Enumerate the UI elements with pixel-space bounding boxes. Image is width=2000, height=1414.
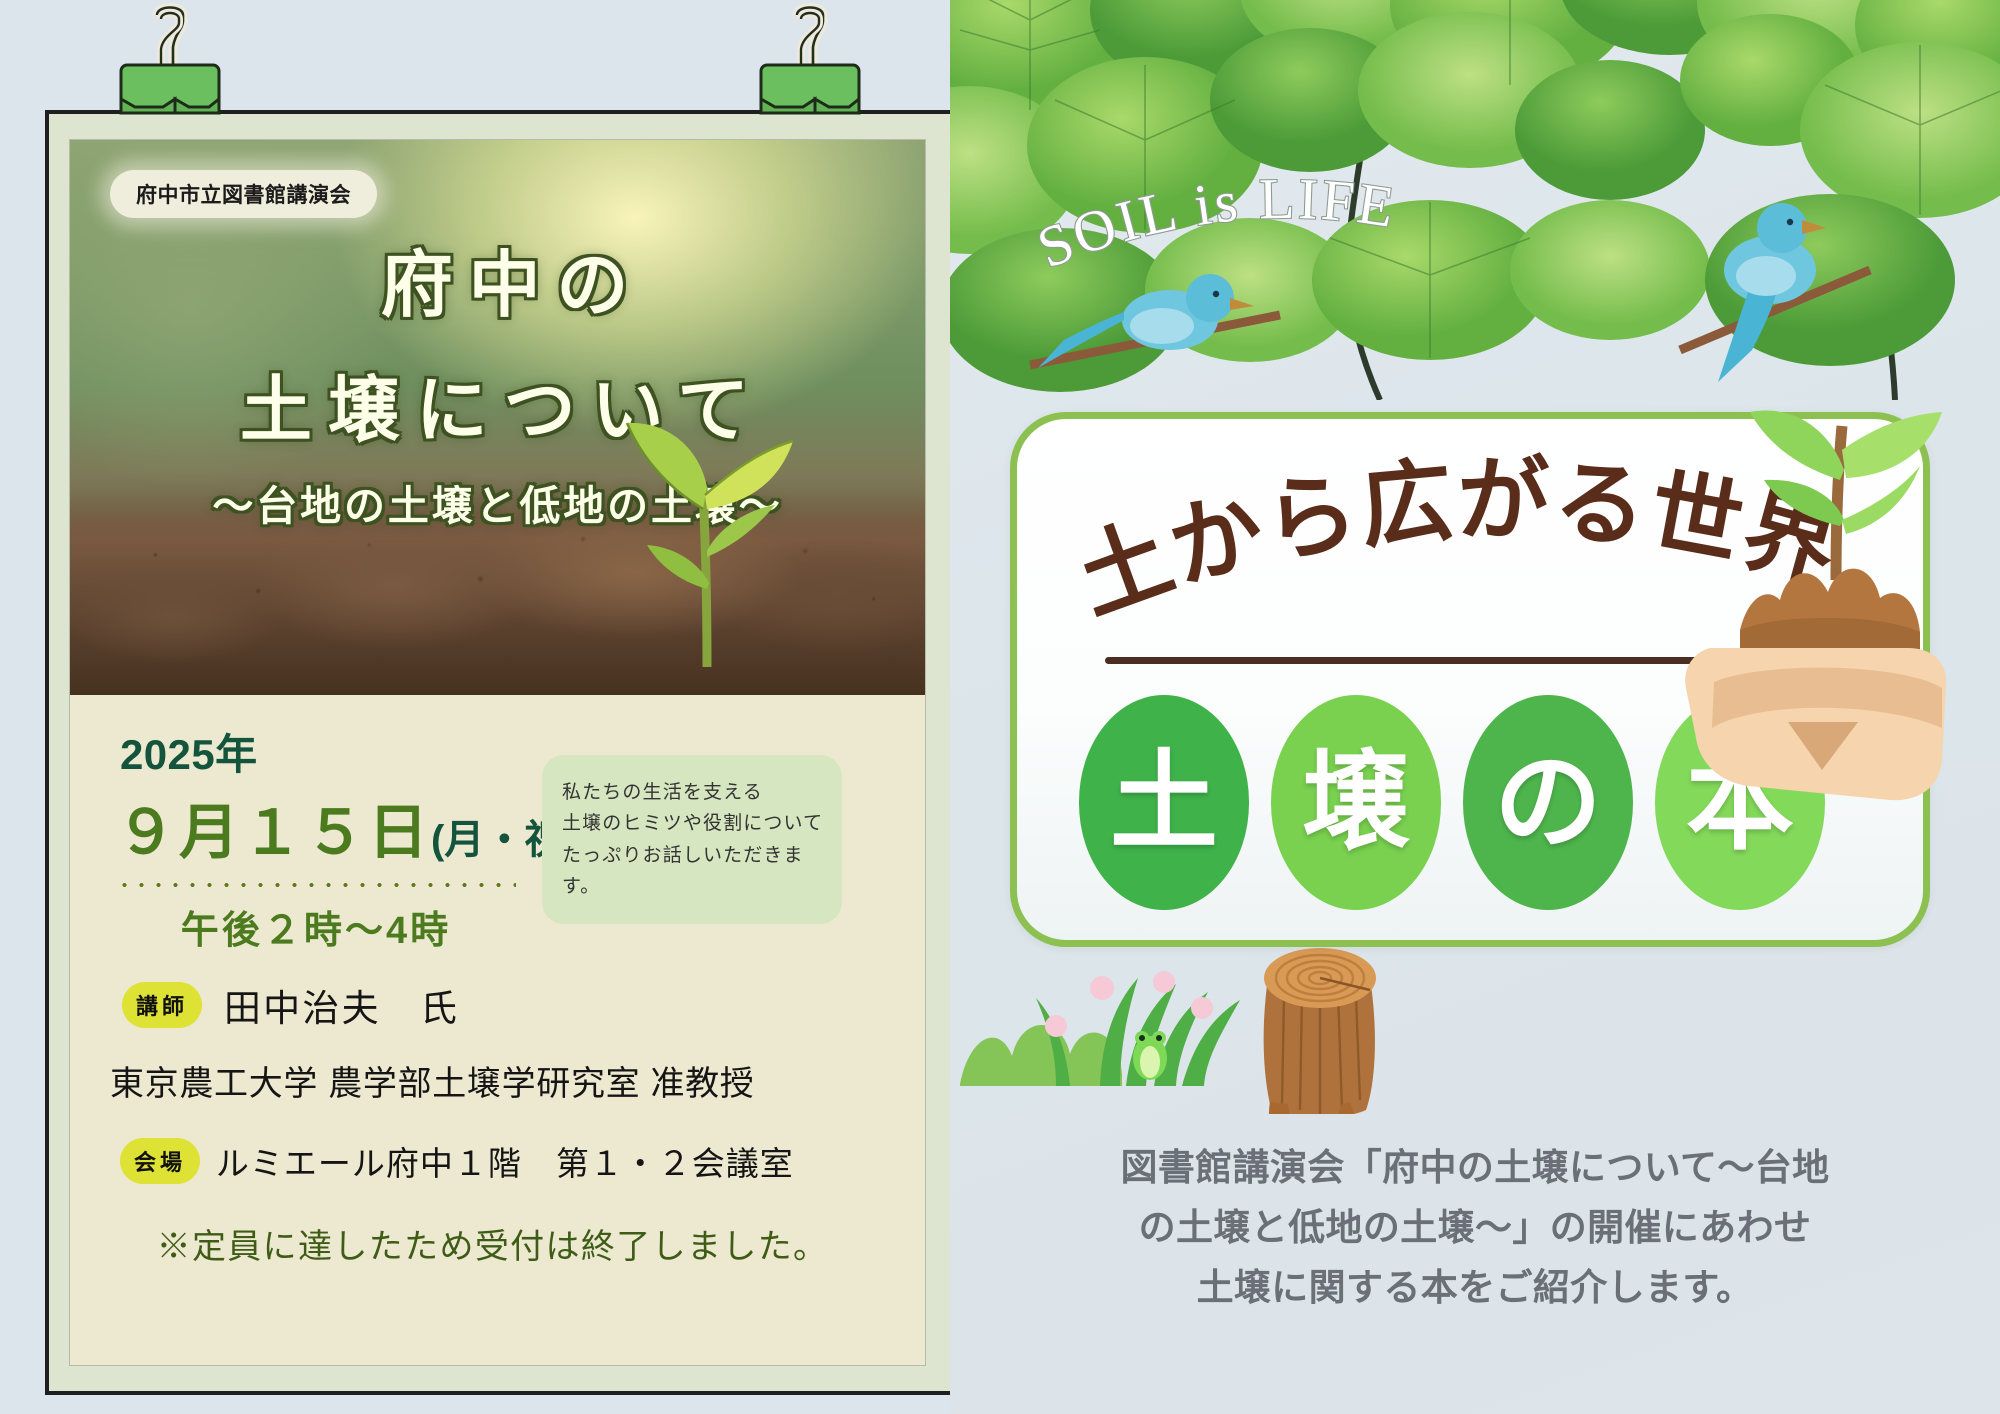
soil-is-life-textpath: SOIL is LIFE bbox=[1032, 172, 1401, 281]
speaker-name: 田中治夫 氏 bbox=[224, 978, 459, 1032]
book-panel-description: 図書館講演会「府中の土壌について〜台地 の土壌と低地の土壌〜」の開催にあわせ 土… bbox=[950, 1138, 2000, 1318]
soil-is-life-tagline: SOIL is LIFE bbox=[1032, 172, 1462, 292]
binder-clip-right-icon bbox=[745, 3, 875, 131]
event-note-box: 私たちの生活を支える 土壌のヒミツや役割について たっぷりお話しいただきます。 bbox=[542, 755, 842, 924]
poster-title-line1: 府中の bbox=[70, 226, 925, 331]
desc-line-3: 土壌に関する本をご紹介します。 bbox=[950, 1258, 2000, 1318]
desc-line-2: の土壌と低地の土壌〜」の開催にあわせ bbox=[950, 1198, 2000, 1258]
event-poster[interactable]: 府中市立図書館講演会 府中の 土壌について 〜台地の土壌と低地の土壌〜 bbox=[70, 140, 925, 1365]
title-chip-char-2: の bbox=[1494, 748, 1602, 856]
note-line-1: 私たちの生活を支える bbox=[562, 777, 824, 808]
sprout-illustration-icon bbox=[607, 337, 807, 667]
venue-name: ルミエール府中１階 第１・２会議室 bbox=[216, 1137, 794, 1185]
note-line-3: たっぷりお話しいただきます。 bbox=[562, 840, 824, 903]
dotted-divider bbox=[116, 881, 516, 889]
poster-details: 2025年 ９月１５日 (月・祝) 午後２時〜4時 私たちの生活を支える 土壌の… bbox=[70, 695, 925, 1268]
speaker-affiliation: 東京農工大学 農学部土壌学研究室 准教授 bbox=[106, 1056, 889, 1105]
speaker-label-pill: 講師 bbox=[122, 982, 202, 1028]
poster-hero-image: 府中市立図書館講演会 府中の 土壌について 〜台地の土壌と低地の土壌〜 bbox=[70, 140, 925, 695]
venue-label-pill: 会場 bbox=[120, 1138, 200, 1184]
date-and-note-row: 2025年 ９月１５日 (月・祝) 午後２時〜4時 私たちの生活を支える 土壌の… bbox=[106, 721, 889, 954]
event-date: ９月１５日 bbox=[116, 784, 431, 871]
poster-panel: 府中市立図書館講演会 府中の 土壌について 〜台地の土壌と低地の土壌〜 bbox=[0, 0, 950, 1414]
desc-line-1: 図書館講演会「府中の土壌について〜台地 bbox=[950, 1138, 2000, 1198]
speaker-row: 講師 田中治夫 氏 bbox=[106, 978, 889, 1032]
screenshot-canvas: 府中市立図書館講演会 府中の 土壌について 〜台地の土壌と低地の土壌〜 bbox=[0, 0, 2000, 1414]
note-line-2: 土壌のヒミツや役割について bbox=[562, 808, 824, 839]
title-chip-1: 壌 bbox=[1271, 695, 1441, 910]
title-chip-0: 土 bbox=[1079, 695, 1249, 910]
title-chip-char-1: 壌 bbox=[1302, 748, 1410, 856]
hand-holding-soil-seedling-icon bbox=[1590, 330, 2000, 830]
event-year: 2025年 bbox=[106, 721, 526, 782]
event-date-row: ９月１５日 (月・祝) bbox=[106, 784, 526, 871]
registration-closed-note: ※定員に達したため受付は終了しました。 bbox=[106, 1219, 889, 1268]
book-feature-panel: SOIL is LIFE bbox=[950, 0, 2000, 1414]
event-time: 午後２時〜4時 bbox=[106, 899, 526, 954]
date-block: 2025年 ９月１５日 (月・祝) 午後２時〜4時 bbox=[106, 721, 526, 954]
svg-text:SOIL is LIFE: SOIL is LIFE bbox=[1032, 172, 1401, 281]
venue-row: 会場 ルミエール府中１階 第１・２会議室 bbox=[106, 1137, 889, 1185]
title-chip-char-0: 土 bbox=[1110, 748, 1218, 856]
organizer-badge: 府中市立図書館講演会 bbox=[110, 170, 377, 218]
binder-clip-left-icon bbox=[105, 3, 235, 131]
